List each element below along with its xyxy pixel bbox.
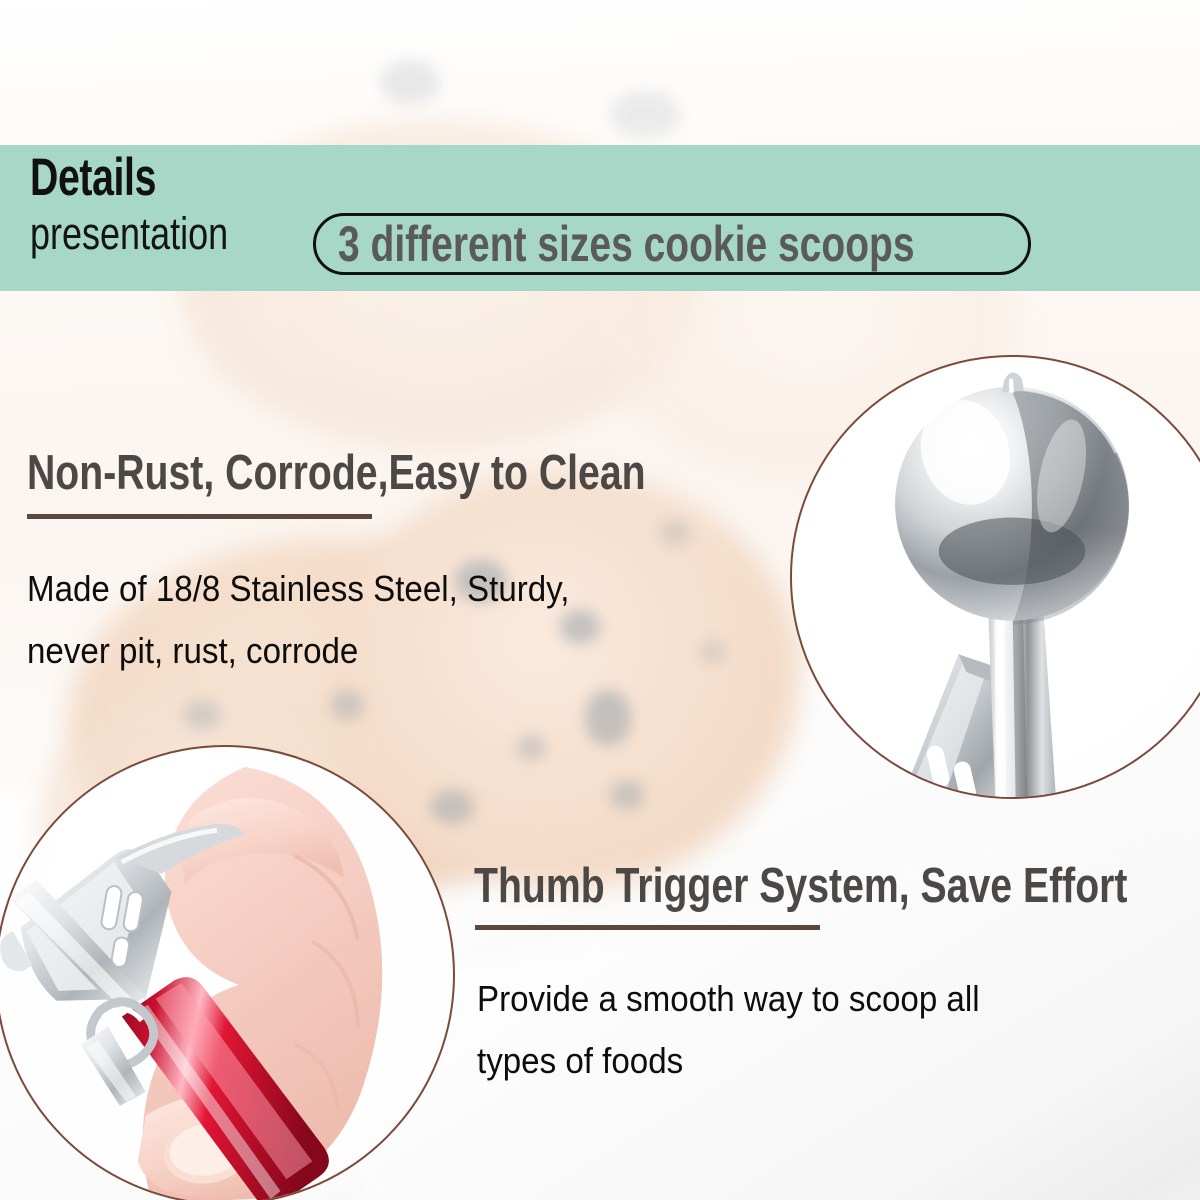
banner-pill: 3 different sizes cookie scoops: [313, 213, 1031, 275]
hand-holding-scoop-photo-circle: [0, 745, 455, 1200]
chip-blur: [380, 60, 440, 104]
chip-blur: [610, 90, 680, 138]
hand-holding-scoop-illustration: [0, 747, 453, 1200]
chip-blur: [183, 700, 221, 730]
feature-2-rule: [475, 925, 820, 930]
chip-blur: [610, 780, 644, 810]
product-detail-infographic: Details presentation 3 different sizes c…: [0, 0, 1200, 1200]
banner-pill-label: 3 different sizes cookie scoops: [338, 219, 915, 269]
feature-2-body: Provide a smooth way to scoop all types …: [477, 968, 980, 1092]
chip-blur: [700, 640, 726, 664]
chip-blur: [660, 520, 690, 546]
banner-title: Details: [30, 151, 156, 204]
feature-1-body: Made of 18/8 Stainless Steel, Sturdy, ne…: [27, 558, 569, 682]
header-banner: Details presentation 3 different sizes c…: [0, 145, 1200, 291]
feature-1-rule: [27, 514, 372, 519]
chip-blur: [430, 790, 474, 824]
chip-blur: [516, 735, 546, 761]
chip-blur: [330, 690, 364, 720]
scoop-head-illustration: [792, 357, 1200, 797]
feature-1-heading: Non-Rust, Corrode,Easy to Clean: [27, 449, 646, 498]
feature-2-heading: Thumb Trigger System, Save Effort: [474, 862, 1127, 911]
banner-subtitle: presentation: [30, 211, 228, 256]
chip-blur: [585, 690, 631, 746]
